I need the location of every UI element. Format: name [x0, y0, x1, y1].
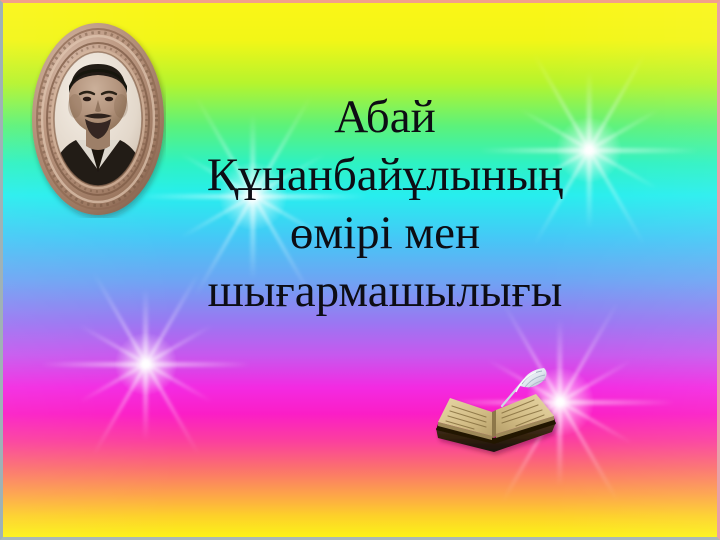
title-line-1: Абай	[150, 88, 620, 146]
presentation-slide: АбайҚұнанбайұлыныңөмірі меншығармашылығы	[0, 0, 720, 540]
open-book-illustration	[432, 366, 560, 464]
slide-title: АбайҚұнанбайұлыныңөмірі меншығармашылығы	[150, 88, 620, 320]
portrait-image	[30, 20, 166, 218]
book-image	[432, 366, 560, 464]
title-line-4: шығармашылығы	[150, 262, 620, 320]
title-line-3: өмірі мен	[150, 204, 620, 262]
abai-portrait	[30, 20, 166, 218]
title-line-2: Құнанбайұлының	[150, 146, 620, 204]
